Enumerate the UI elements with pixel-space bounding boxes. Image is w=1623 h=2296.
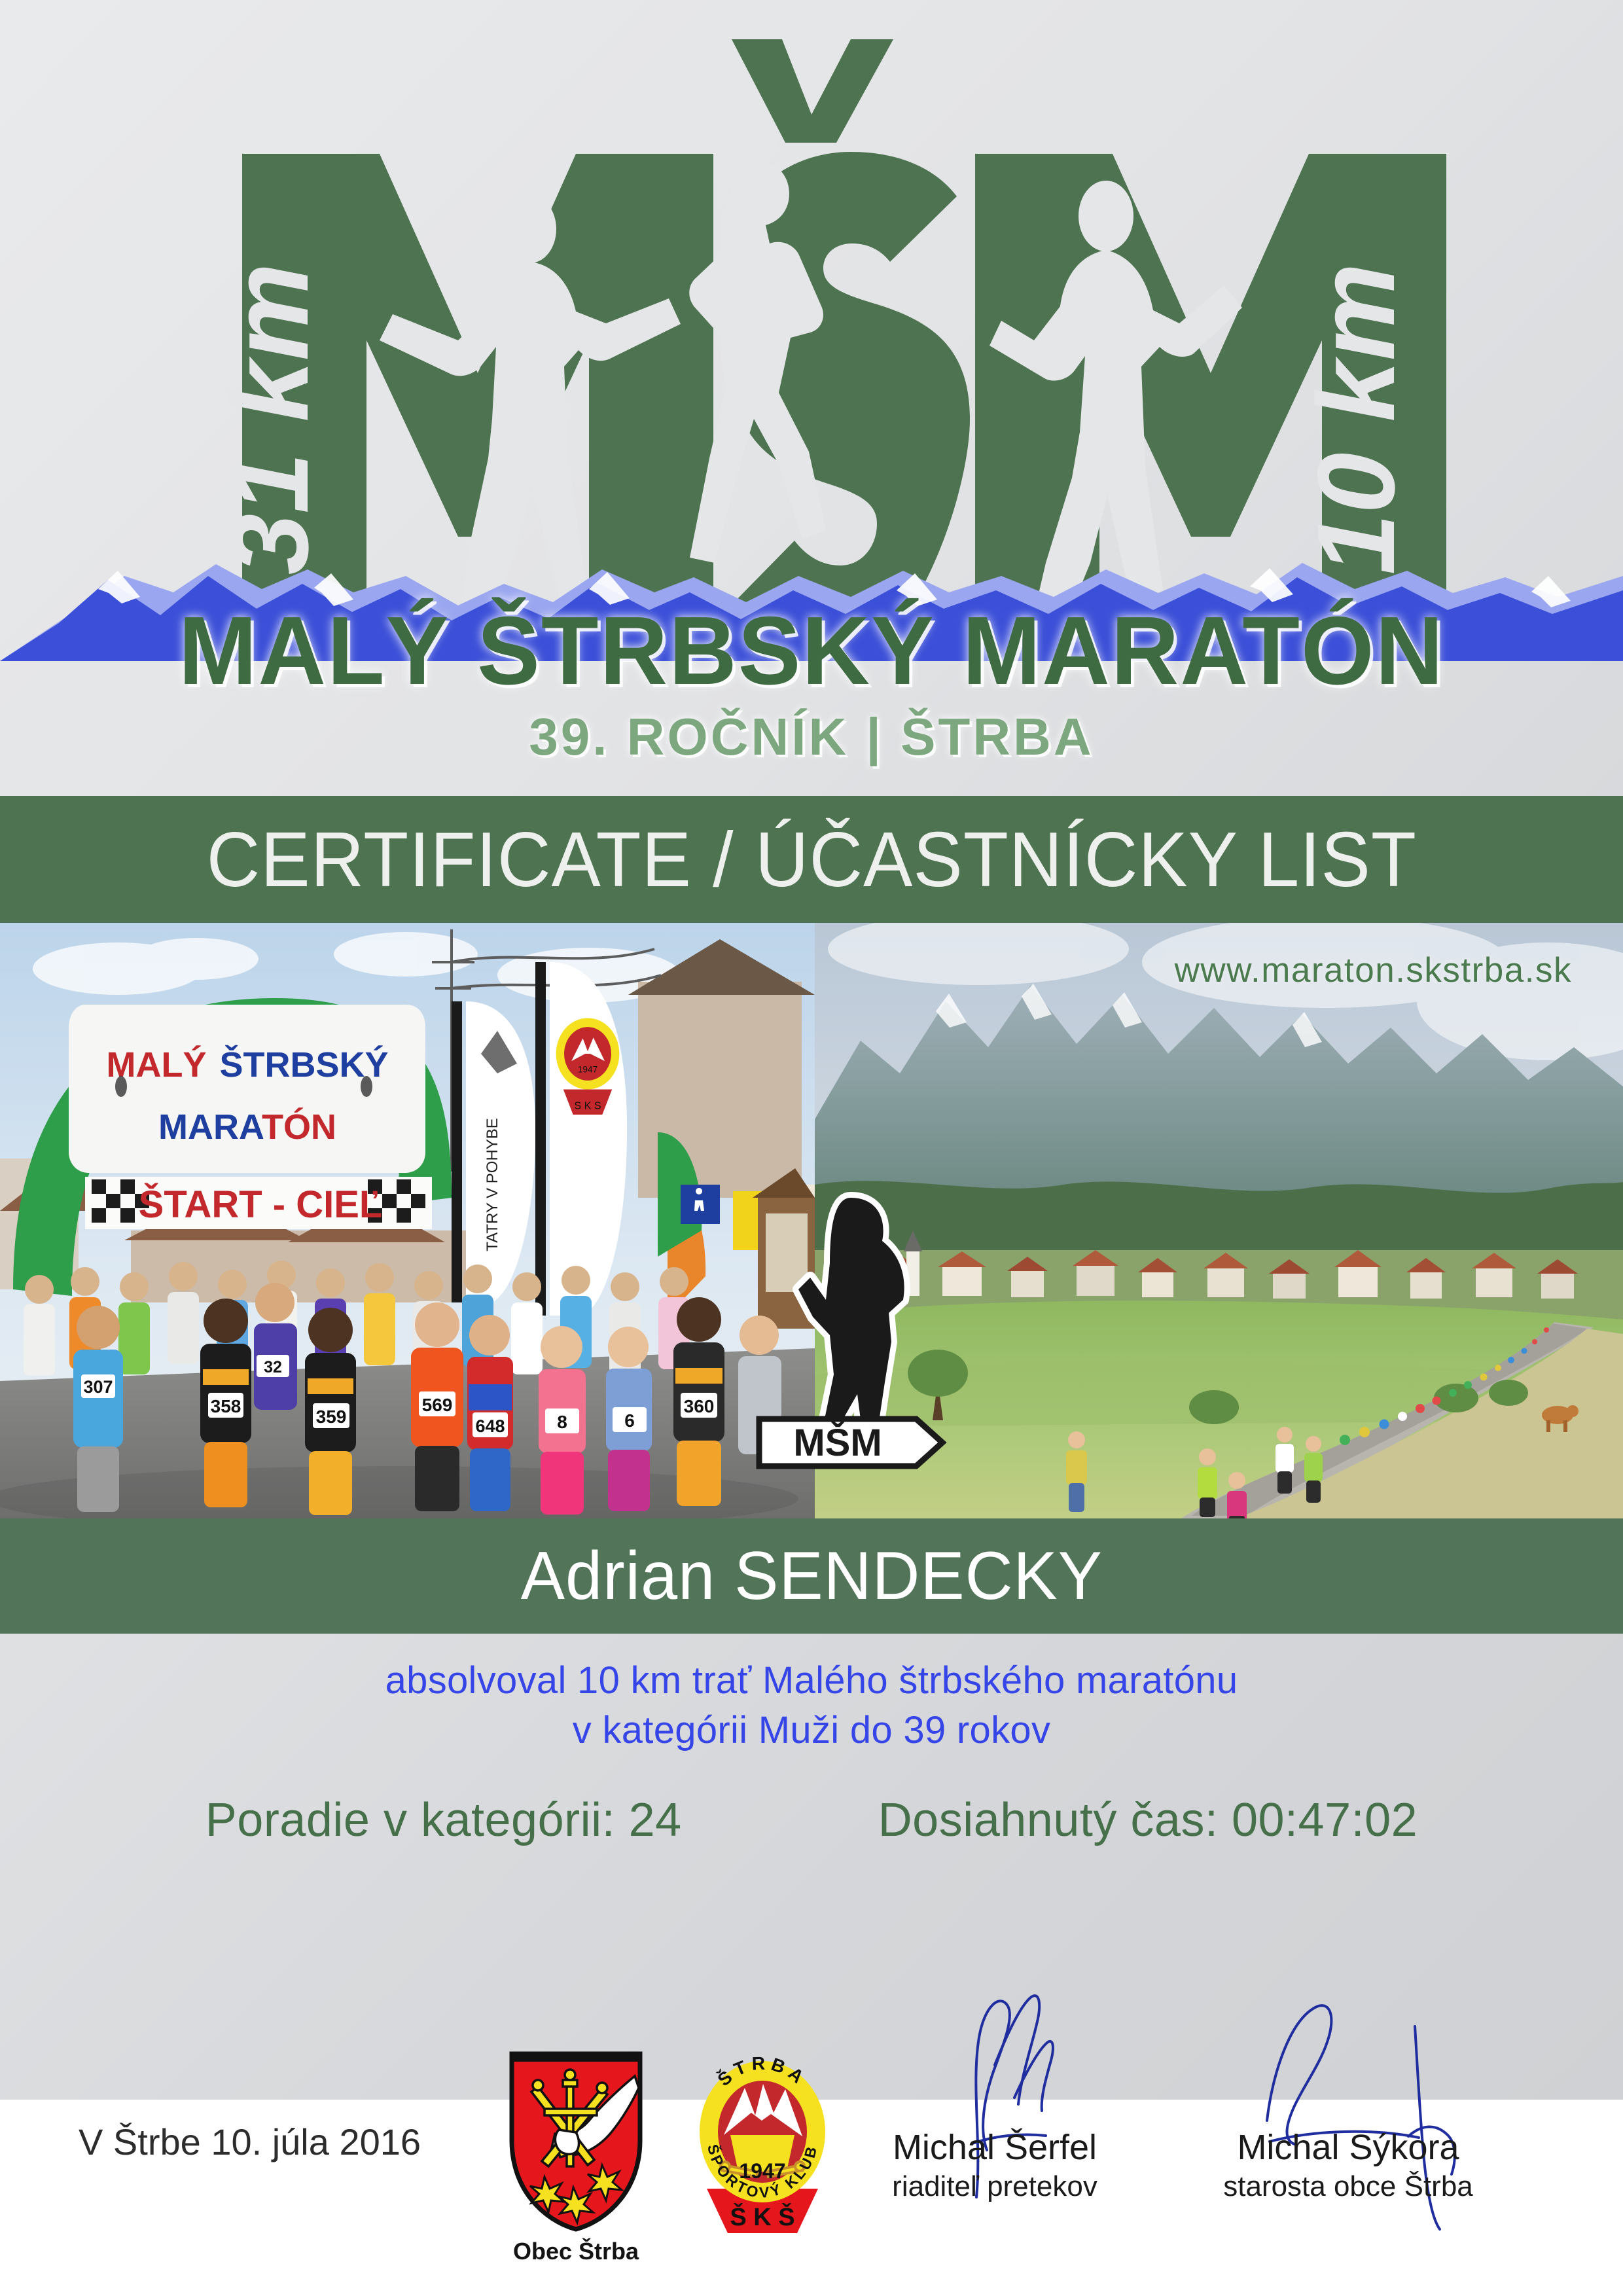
logo-letter-m-left: 31 km [208,154,713,655]
photo-strip: MALÝŠTRBSKÝ MARATÓN [0,923,1623,1518]
logo-letter-s-middle [689,39,970,660]
svg-text:359: 359 [316,1407,347,1427]
flag-text: TATRY V POHYBE [484,1118,501,1251]
sks-year: 1947 [739,2159,785,2183]
svg-text:1947: 1947 [578,1065,597,1075]
svg-text:648: 648 [475,1416,505,1436]
achievement-text: absolvoval 10 km trať Malého štrbského m… [0,1656,1623,1755]
achievement-line-2: v kategórii Muži do 39 rokov [0,1706,1623,1755]
certificate-title-band: CERTIFICATE / ÚČASTNÍCKY LIST [0,796,1623,923]
website-url[interactable]: www.maraton.skstrba.sk [1175,950,1572,990]
issue-date: V Štrbe 10. júla 2016 [79,2121,421,2163]
coat-of-arms-caption: Obec Štrba [504,2238,648,2265]
svg-text:6: 6 [624,1410,635,1431]
svg-text:S K S: S K S [574,1100,601,1111]
finish-time: Dosiahnutý čas: 00:47:02 [878,1793,1418,1847]
signature-block-director: Michal Šerfel riaditeľ pretekov [844,2127,1145,2203]
svg-text:32: 32 [264,1358,282,1376]
event-title: MALÝ ŠTRBSKÝ MARATÓN [24,602,1599,700]
athlete-name-band: Adrian SENDECKY [0,1518,1623,1634]
wooden-kiosk [753,1168,815,1329]
certificate-title: CERTIFICATE / ÚČASTNÍCKY LIST [206,815,1416,905]
photo-start-line: MALÝŠTRBSKÝ MARATÓN [0,923,815,1518]
arch-line-2: MARATÓN [158,1107,336,1147]
sks-base-text: Š K Š [730,2202,794,2231]
event-subtitle: 39. ROČNÍK | ŠTRBA [0,707,1623,767]
svg-text:307: 307 [83,1377,113,1397]
athlete-name: Adrian SENDECKY [520,1537,1102,1615]
svg-text:360: 360 [684,1396,715,1416]
distance-right-label: 10 km [1294,263,1418,575]
signature-name: Michal Šerfel [844,2127,1145,2168]
svg-text:8: 8 [557,1412,567,1432]
svg-text:569: 569 [422,1395,453,1415]
start-finish-banner: ŠTART - CIEĽ [139,1183,383,1226]
results-row: Poradie v kategórii: 24 Dosiahnutý čas: … [0,1793,1623,1847]
signature-role: starosta obce Štrba [1198,2170,1499,2203]
sks-club-emblem: Š K Š 1947 ŠTRBA ŠPORTO [687,2037,838,2250]
signature-name: Michal Sýkora [1198,2127,1499,2168]
category-rank: Poradie v kategórii: 24 [205,1793,682,1847]
achievement-line-1: absolvoval 10 km trať Malého štrbského m… [0,1656,1623,1706]
pedestrian-crossing-sign [681,1185,720,1224]
signature-block-mayor: Michal Sýkora starosta obce Štrba [1198,2127,1499,2203]
svg-text:358: 358 [211,1396,241,1416]
photo-course-landscape: www.maraton.skstrba.sk [815,923,1623,1518]
certificate-page: 31 km [0,0,1623,2296]
distance-left-label: 31 km [208,263,331,575]
event-logo-block: 31 km [0,0,1623,792]
coat-of-arms-obec-strba: Obec Štrba [504,2049,648,2265]
signature-role: riaditeľ pretekov [844,2170,1145,2203]
arch-line-1: MALÝŠTRBSKÝ [106,1045,388,1085]
